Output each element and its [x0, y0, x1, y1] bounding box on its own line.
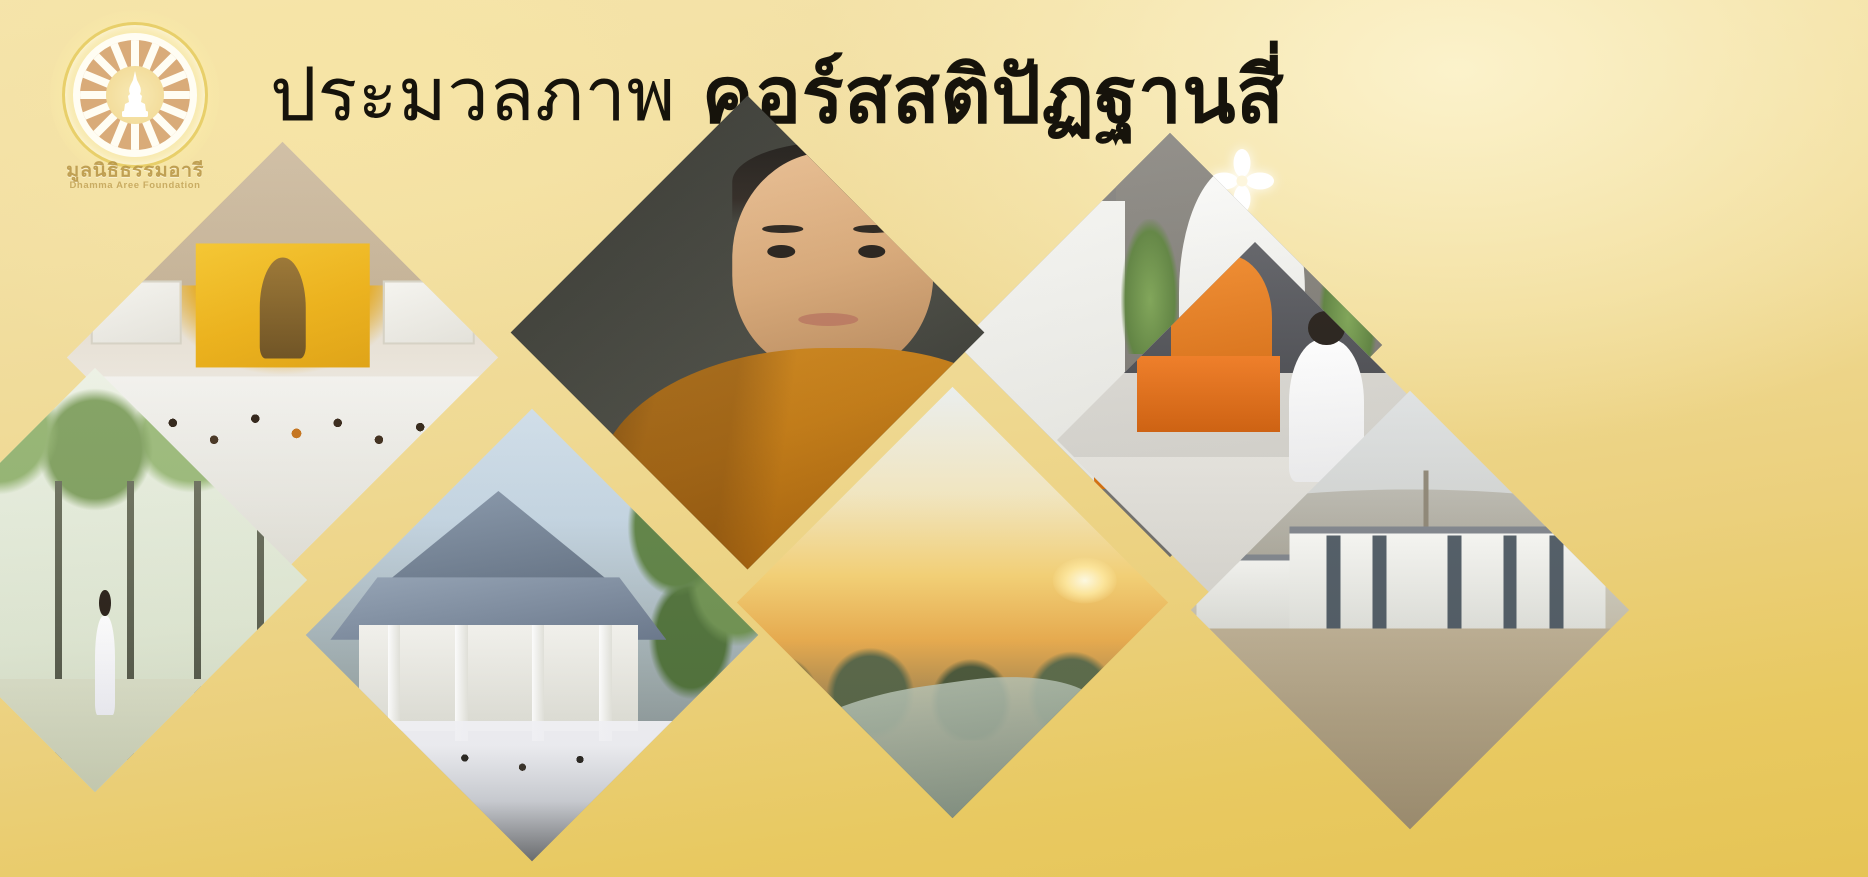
title-bold-part: คอร์สสติปัฏฐานสี่ — [702, 56, 1284, 134]
banner-title: ประมวลภาพ คอร์สสติปัฏฐานสี่ — [270, 40, 1670, 150]
foundation-logo: มูลนิธิธรรมอารี Dhamma Aree Foundation — [40, 6, 230, 216]
title-light-part: ประมวลภาพ — [270, 58, 676, 132]
foundation-name-en: Dhamma Aree Foundation — [40, 180, 230, 191]
banner-root: มูลนิธิธรรมอารี Dhamma Aree Foundation ป… — [0, 0, 1868, 877]
stupa-icon — [118, 71, 152, 119]
dharma-wheel-icon — [73, 33, 197, 157]
